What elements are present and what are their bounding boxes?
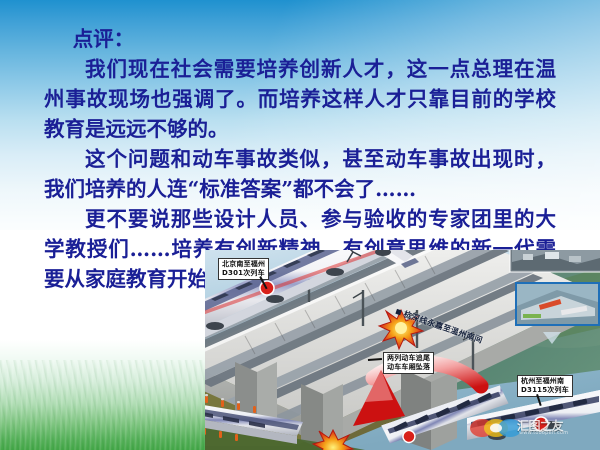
slide-canvas: 点评： 我们现在社会需要培养创新人才，这一点总理在温州事故现场也强调了。而培养这… (0, 0, 600, 450)
line-marker-icon (395, 309, 401, 315)
commentary-heading: 点评： (44, 24, 556, 54)
accident-infographic: 汇图之友 www.tooopen.com (205, 250, 600, 450)
commentary-paragraph-2: 这个问题和动车事故类似，甚至动车事故出现时，我们培养的人连“标准答案”都不会了…… (44, 144, 556, 204)
caption-train-d3115: 杭州至福州南 D3115次列车 (517, 375, 573, 397)
caption-collision: 两列动车追尾 动车车厢坠落 (383, 352, 434, 374)
commentary-paragraph-1: 我们现在社会需要培养创新人才，这一点总理在温州事故现场也强调了。而培养这样人才只… (44, 54, 556, 144)
